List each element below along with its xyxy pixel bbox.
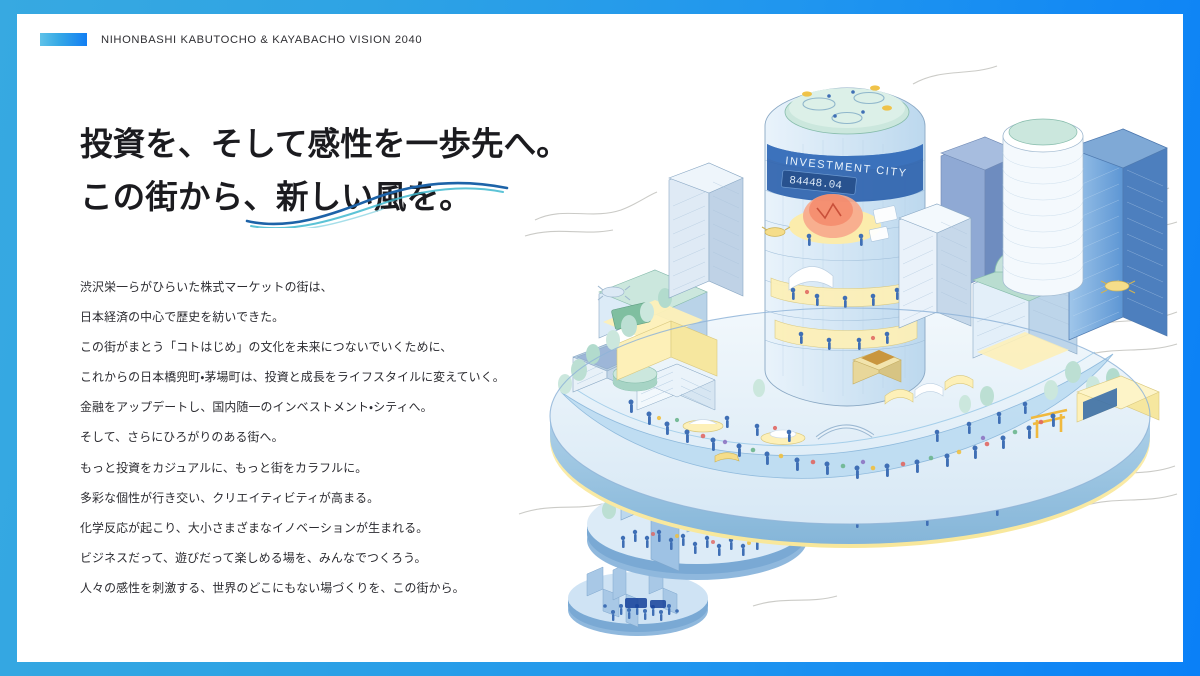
cylinder-tower: [1003, 119, 1083, 296]
isometric-city-illustration: INVESTMENT CITY 84448.04: [517, 40, 1183, 640]
boat: [683, 420, 723, 433]
headline-line-1: 投資を、そして感性を一歩先へ。: [80, 118, 550, 171]
header-title: NIHONBASHI KABUTOCHO & KAYABACHO VISION …: [101, 34, 422, 46]
body-copy: 渋沢栄一らがひらいた株式マーケットの街は、 日本経済の中心で歴史を紡いできた。 …: [80, 282, 540, 595]
headline-line-2: この街から、新しい風を。: [80, 171, 550, 224]
header: NIHONBASHI KABUTOCHO & KAYABACHO VISION …: [40, 33, 422, 46]
copy-line: そして、さらにひろがりのある街へ。: [80, 432, 540, 444]
copy-line: これからの日本橋兜町・茅場町は、投資と成長をライフスタイルに変えていく。: [80, 372, 540, 384]
copy-line: この街がまとう「コトはじめ」の文化を未来につないでいくために、: [80, 342, 540, 354]
copy-line: 金融をアップデートし、国内随一のインベストメント・シティへ。: [80, 402, 540, 414]
copy-line: 化学反応が起こり、大小さまざまなイノベーションが生まれる。: [80, 523, 540, 535]
copy-line: 日本経済の中心で歴史を紡いできた。: [80, 312, 540, 324]
page-frame: NIHONBASHI KABUTOCHO & KAYABACHO VISION …: [0, 0, 1200, 676]
background-tower: [669, 163, 743, 298]
copy-line: 人々の感性を刺激する、世界のどこにもない場づくりを、この街から。: [80, 583, 540, 595]
copy-line: もっと投資をカジュアルに、もっと街をカラフルに。: [80, 463, 540, 475]
gradient-bar-icon: [40, 33, 87, 46]
glass-tower: [1069, 129, 1167, 340]
main-city-disc: INVESTMENT CITY 84448.04: [550, 85, 1167, 548]
page-title: 投資を、そして感性を一歩先へ。 この街から、新しい風を。: [80, 118, 550, 223]
copy-line: ビジネスだって、遊びだって楽しめる場を、みんなでつくろう。: [80, 553, 540, 565]
copy-line: 多彩な個性が行き交い、クリエイティビティが高まる。: [80, 493, 540, 505]
background-tower: [899, 204, 971, 328]
copy-line: 渋沢栄一らがひらいた株式マーケットの街は、: [80, 282, 540, 294]
page-canvas: NIHONBASHI KABUTOCHO & KAYABACHO VISION …: [17, 14, 1183, 662]
